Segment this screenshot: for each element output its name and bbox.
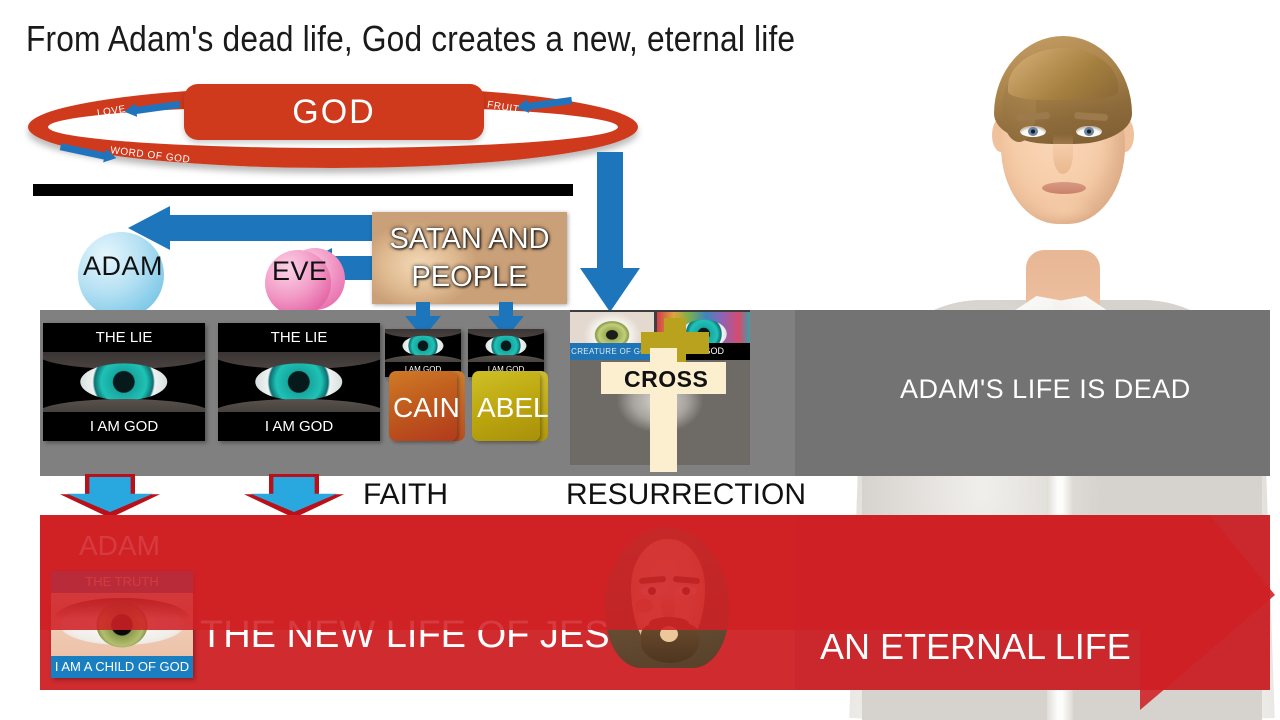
eve-lie-card: THE LIE I AM GOD — [218, 323, 380, 441]
jesus-nose — [661, 593, 675, 619]
abel-lie-card: I AM GOD — [468, 329, 544, 377]
cain-label: CAIN — [393, 392, 460, 424]
satan-and-people-label: SATAN AND PEOPLE — [372, 220, 567, 296]
god-down-arrow-shaft — [597, 152, 623, 274]
adams-life-is-dead-label: ADAM'S LIFE IS DEAD — [900, 374, 1191, 405]
faith-down-arrow-2-icon — [244, 474, 344, 518]
adam-sphere-label: ADAM — [83, 251, 163, 282]
cain-lie-card: I AM GOD — [385, 329, 461, 377]
jesus-cheek — [635, 599, 653, 613]
faith-down-arrow-1-icon — [60, 474, 160, 518]
satan-and-people-image: SATAN AND PEOPLE — [372, 212, 567, 304]
eye-right — [1076, 126, 1102, 137]
adam-lie-card-title: THE LIE — [43, 323, 205, 352]
god-label: GOD — [292, 93, 375, 132]
mosaic-eye-icon — [43, 352, 205, 412]
satan-label-line2: PEOPLE — [372, 258, 567, 296]
jesus-chin — [660, 626, 678, 642]
jesus-portrait — [597, 523, 737, 668]
page-title: From Adam's dead life, God creates a new… — [26, 18, 795, 60]
truth-card-caption: I AM A CHILD OF GOD — [51, 656, 193, 678]
god-box: GOD — [184, 84, 484, 140]
black-divider-bar — [33, 184, 573, 196]
mosaic-eye-icon — [385, 329, 461, 362]
mouth — [1042, 182, 1086, 194]
eve-lie-card-caption: I AM GOD — [218, 412, 380, 441]
jesus-eye-right — [675, 586, 697, 596]
resurrection-label: RESURRECTION — [566, 478, 806, 512]
green-eye-icon — [51, 593, 193, 656]
new-life-of-jesus-label: THE NEW LIFE OF JESUS — [200, 614, 662, 657]
cross-label: CROSS — [624, 366, 708, 393]
mosaic-eye-icon — [218, 352, 380, 412]
nose — [1053, 134, 1073, 174]
god-down-arrow-head-icon — [580, 268, 640, 312]
eye-left — [1020, 126, 1046, 137]
adam-lie-card-caption: I AM GOD — [43, 412, 205, 441]
eve-lie-card-title: THE LIE — [218, 323, 380, 352]
truth-card: THE TRUTH I AM A CHILD OF GOD — [51, 571, 193, 678]
satan-label-line1: SATAN AND — [372, 220, 567, 258]
adam-new-life-label: ADAM — [79, 530, 160, 562]
mosaic-eye-icon — [468, 329, 544, 362]
eve-sphere-label: EVE — [272, 256, 328, 287]
adam-lie-card: THE LIE I AM GOD — [43, 323, 205, 441]
chin — [1032, 196, 1094, 222]
abel-label: ABEL — [477, 392, 549, 424]
slide-canvas: From Adam's dead life, God creates a new… — [0, 0, 1280, 720]
truth-card-title: THE TRUTH — [51, 571, 193, 593]
eternal-life-label: AN ETERNAL LIFE — [820, 626, 1131, 668]
jesus-eye-left — [641, 586, 663, 596]
faith-label: FAITH — [363, 478, 448, 512]
